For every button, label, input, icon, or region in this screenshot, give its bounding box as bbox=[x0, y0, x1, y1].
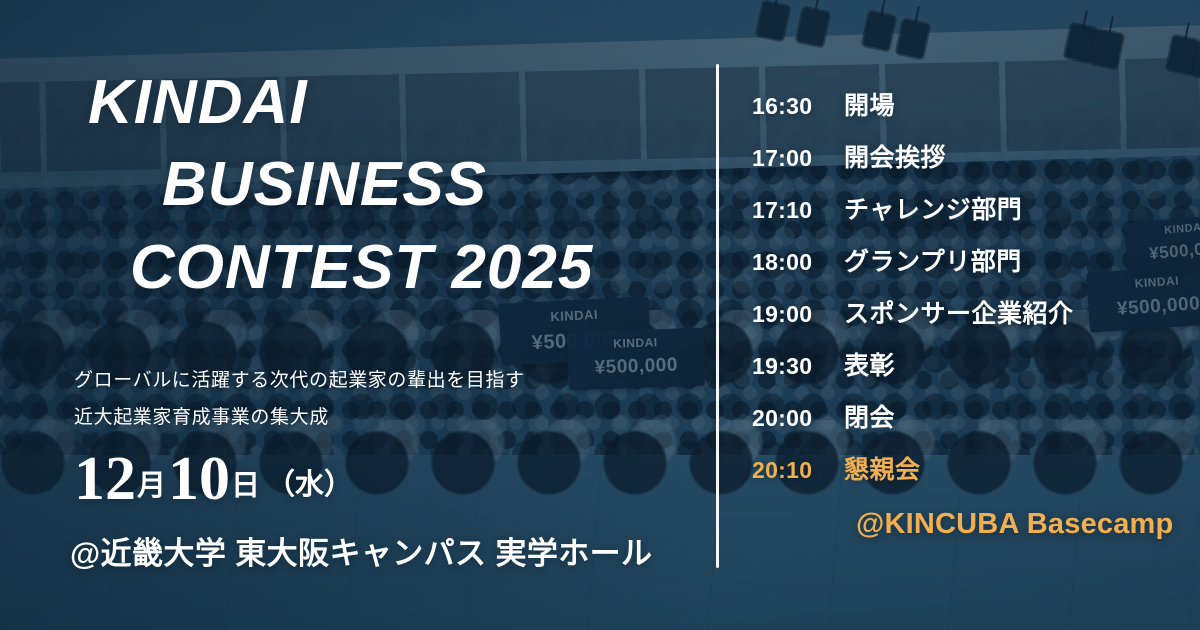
schedule-label: グランプリ部門 bbox=[844, 242, 1022, 278]
event-date: 12月10日（水） bbox=[74, 448, 353, 510]
schedule-row-afterparty: 20:10 懇親会 bbox=[752, 450, 1182, 502]
schedule-row: 17:10 チャレンジ部門 bbox=[752, 190, 1182, 242]
subtitle-line-2: 近大起業家育成事業の集大成 bbox=[74, 399, 525, 436]
headline-line-3: CONTEST 2025 bbox=[88, 227, 688, 309]
date-day-unit: 日 bbox=[231, 470, 260, 502]
schedule-row: 16:30 開場 bbox=[752, 86, 1182, 138]
schedule-time: 17:00 bbox=[752, 145, 844, 172]
event-venue: @近畿大学 東大阪キャンパス 実学ホール bbox=[70, 528, 652, 573]
schedule-row: 17:00 開会挨拶 bbox=[752, 138, 1182, 190]
subtitle: グローバルに活躍する次代の起業家の輩出を目指す 近大起業家育成事業の集大成 bbox=[74, 362, 525, 436]
headline-line-2: BUSINESS bbox=[88, 144, 688, 226]
schedule-row: 20:00 閉会 bbox=[752, 398, 1182, 450]
schedule-time: 17:10 bbox=[752, 197, 844, 224]
vertical-divider bbox=[716, 64, 719, 568]
schedule-time: 20:10 bbox=[752, 457, 844, 484]
schedule-label: スポンサー企業紹介 bbox=[844, 294, 1074, 330]
schedule-row: 19:00 スポンサー企業紹介 bbox=[752, 294, 1182, 346]
schedule-time: 20:00 bbox=[752, 405, 844, 432]
schedule-list: 16:30 開場 17:00 開会挨拶 17:10 チャレンジ部門 18:00 … bbox=[752, 86, 1182, 502]
schedule-time: 19:30 bbox=[752, 353, 844, 380]
event-poster: KINDAI ¥500,000 KINDAI ¥500,000 KINDAI ¥… bbox=[0, 0, 1200, 630]
schedule-label: 懇親会 bbox=[844, 450, 921, 486]
schedule-label: 開場 bbox=[844, 86, 895, 122]
schedule-label: 閉会 bbox=[844, 398, 895, 434]
schedule-label: 表彰 bbox=[844, 346, 895, 382]
date-month-number: 12 bbox=[74, 445, 136, 513]
date-weekday: （水） bbox=[266, 469, 353, 501]
schedule-row: 19:30 表彰 bbox=[752, 346, 1182, 398]
date-day-number: 10 bbox=[168, 445, 230, 513]
schedule-row: 18:00 グランプリ部門 bbox=[752, 242, 1182, 294]
schedule-time: 19:00 bbox=[752, 301, 844, 328]
subtitle-line-1: グローバルに活躍する次代の起業家の輩出を目指す bbox=[74, 362, 525, 399]
schedule-time: 16:30 bbox=[752, 93, 844, 120]
left-column: KINDAI BUSINESS CONTEST 2025 グローバルに活躍する次… bbox=[0, 0, 700, 630]
headline-line-1: KINDAI bbox=[88, 62, 688, 144]
schedule-label: チャレンジ部門 bbox=[844, 190, 1022, 226]
schedule-time: 18:00 bbox=[752, 249, 844, 276]
poster-content: KINDAI BUSINESS CONTEST 2025 グローバルに活躍する次… bbox=[0, 0, 1200, 630]
page-title: KINDAI BUSINESS CONTEST 2025 bbox=[88, 62, 688, 309]
date-month-unit: 月 bbox=[137, 470, 166, 502]
afterparty-venue: @KINCUBA Basecamp bbox=[856, 508, 1173, 541]
schedule-label: 開会挨拶 bbox=[844, 138, 946, 174]
